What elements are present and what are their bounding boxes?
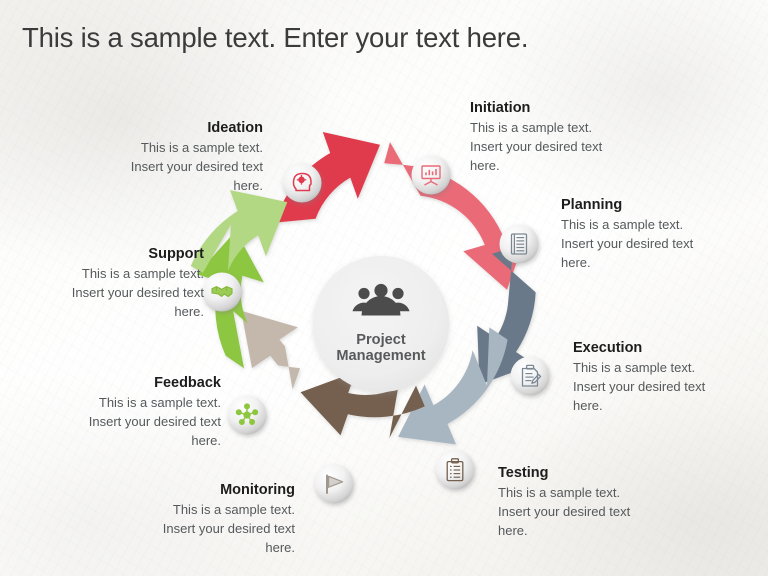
step-body-feedback: This is a sample text. Insert your desir… [26, 394, 221, 450]
step-label-monitoring: Monitoring [80, 481, 295, 500]
step-body-planning: This is a sample text. Insert your desir… [561, 216, 761, 272]
step-text-testing: Testing This is a sample text. Insert yo… [498, 464, 698, 540]
step-text-monitoring: Monitoring This is a sample text. Insert… [80, 481, 295, 557]
step-body-support: This is a sample text. Insert your desir… [18, 265, 204, 321]
step-text-support: Support This is a sample text. Insert yo… [18, 245, 204, 321]
step-label-execution: Execution [573, 339, 763, 358]
step-label-planning: Planning [561, 196, 761, 215]
step-text-execution: Execution This is a sample text. Insert … [573, 339, 763, 415]
badge-initiation-plate [412, 156, 451, 195]
badge-execution-plate [511, 357, 550, 396]
step-body-ideation: This is a sample text. Insert your desir… [58, 139, 263, 195]
arrow-segment-monitoring[interactable] [241, 311, 300, 390]
step-body-monitoring: This is a sample text. Insert your desir… [80, 501, 295, 557]
step-label-testing: Testing [498, 464, 698, 483]
step-body-testing: This is a sample text. Insert your desir… [498, 484, 698, 540]
step-text-planning: Planning This is a sample text. Insert y… [561, 196, 761, 272]
badge-ideation[interactable] [283, 164, 322, 203]
badge-planning[interactable] [500, 225, 539, 264]
hub-circle [313, 256, 449, 392]
hub-label-line1: Project [356, 332, 406, 348]
step-label-support: Support [18, 245, 204, 264]
step-label-feedback: Feedback [26, 374, 221, 393]
badge-execution[interactable] [511, 357, 550, 396]
step-text-ideation: Ideation This is a sample text. Insert y… [58, 119, 263, 195]
step-body-initiation: This is a sample text. Insert your desir… [470, 119, 685, 175]
step-text-feedback: Feedback This is a sample text. Insert y… [26, 374, 221, 450]
hub[interactable]: Project Management [313, 256, 449, 392]
page-title: This is a sample text. Enter your text h… [22, 22, 528, 54]
step-label-initiation: Initiation [470, 99, 685, 118]
badge-support[interactable] [203, 273, 242, 312]
badge-feedback[interactable] [228, 396, 267, 435]
badge-initiation[interactable] [412, 156, 451, 195]
step-body-execution: This is a sample text. Insert your desir… [573, 359, 763, 415]
step-text-initiation: Initiation This is a sample text. Insert… [470, 99, 685, 175]
badge-monitoring[interactable] [315, 465, 354, 504]
badge-testing[interactable] [436, 451, 475, 490]
hub-label-line2: Management [336, 348, 425, 364]
step-label-ideation: Ideation [58, 119, 263, 138]
